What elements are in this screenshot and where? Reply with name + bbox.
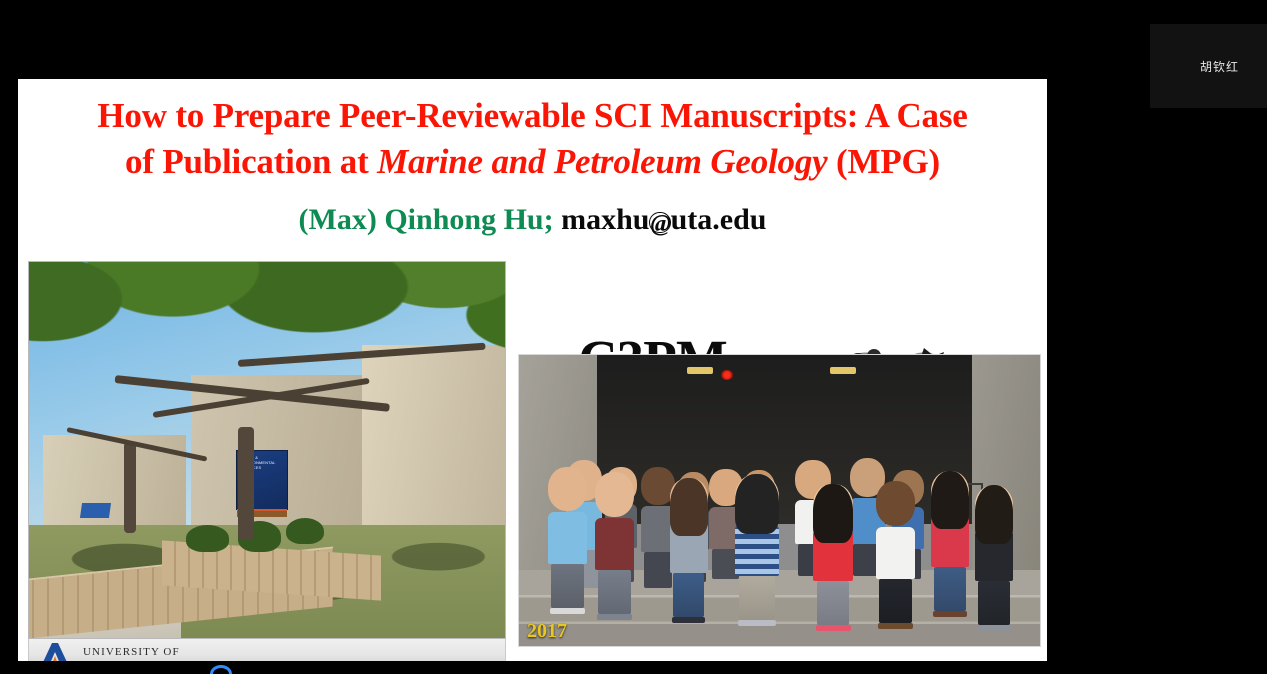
slide-title-line-2: of Publication at Marine and Petroleum G… <box>36 139 1029 185</box>
author-email-domain: uta.edu <box>671 203 767 236</box>
person-presenter <box>735 474 779 626</box>
shoes <box>977 625 1011 631</box>
author-email: maxhu@uta.edu <box>554 203 767 236</box>
uta-wordmark: UNIVERSITY OF TEXAS–ARLINGTON <box>83 646 204 662</box>
hair <box>813 484 853 543</box>
tree-canopy <box>28 261 506 450</box>
person <box>975 485 1014 631</box>
red-indicator-light-icon <box>721 370 733 380</box>
person <box>876 481 916 628</box>
campus-photo: EARTH & ENVIRONMENTAL SCIENCES <box>28 261 506 639</box>
hair <box>735 474 779 535</box>
shoes <box>597 614 632 620</box>
slide-title-block: How to Prepare Peer-Reviewable SCI Manus… <box>18 79 1047 239</box>
photo-year-label: 2017 <box>527 620 567 643</box>
ceiling-light <box>830 367 856 374</box>
meeting-control-arc-icon[interactable] <box>210 665 232 674</box>
uta-a-star-logo-icon <box>35 642 75 662</box>
slide-title-line-2-suffix: (MPG) <box>827 142 940 181</box>
shoes <box>672 617 705 623</box>
blue-canopy <box>80 503 111 518</box>
slide-title-line-2-prefix: of Publication at <box>125 142 377 181</box>
shrub <box>286 518 324 544</box>
person <box>813 484 853 631</box>
ceiling-light <box>687 367 713 374</box>
slide-title-journal-name: Marine and Petroleum Geology <box>377 142 827 181</box>
zoom-meeting-window: How to Prepare Peer-Reviewable SCI Manus… <box>0 0 1267 674</box>
shared-screen-slide[interactable]: How to Prepare Peer-Reviewable SCI Manus… <box>18 79 1047 661</box>
uta-line-1: UNIVERSITY OF <box>83 646 204 659</box>
shoes <box>738 620 777 626</box>
hair <box>931 471 970 529</box>
participant-video-tile[interactable]: 胡钦红 <box>1150 24 1267 108</box>
research-group-photo: 2017 <box>518 354 1041 647</box>
author-name: (Max) Qinhong Hu; <box>299 203 554 236</box>
shrub <box>186 525 229 551</box>
shoes <box>816 625 851 631</box>
participant-name-label: 胡钦红 <box>1200 58 1239 75</box>
shoes <box>878 623 913 629</box>
shoes <box>933 611 967 617</box>
meeting-toolbar[interactable] <box>0 661 1267 674</box>
person <box>670 478 708 623</box>
person <box>548 467 588 614</box>
shoes <box>550 608 585 614</box>
hair <box>670 478 708 536</box>
slide-author-line: (Max) Qinhong Hu; maxhu@uta.edu <box>36 201 1029 239</box>
slide-title-line-1: How to Prepare Peer-Reviewable SCI Manus… <box>36 93 1029 139</box>
uta-footer-band: UNIVERSITY OF TEXAS–ARLINGTON <box>28 639 506 661</box>
person <box>595 472 635 619</box>
hair <box>975 485 1014 543</box>
tree-trunk <box>124 442 136 532</box>
person <box>931 471 970 617</box>
author-email-user: maxhu <box>561 203 649 236</box>
at-sign-icon: @ <box>649 212 670 233</box>
